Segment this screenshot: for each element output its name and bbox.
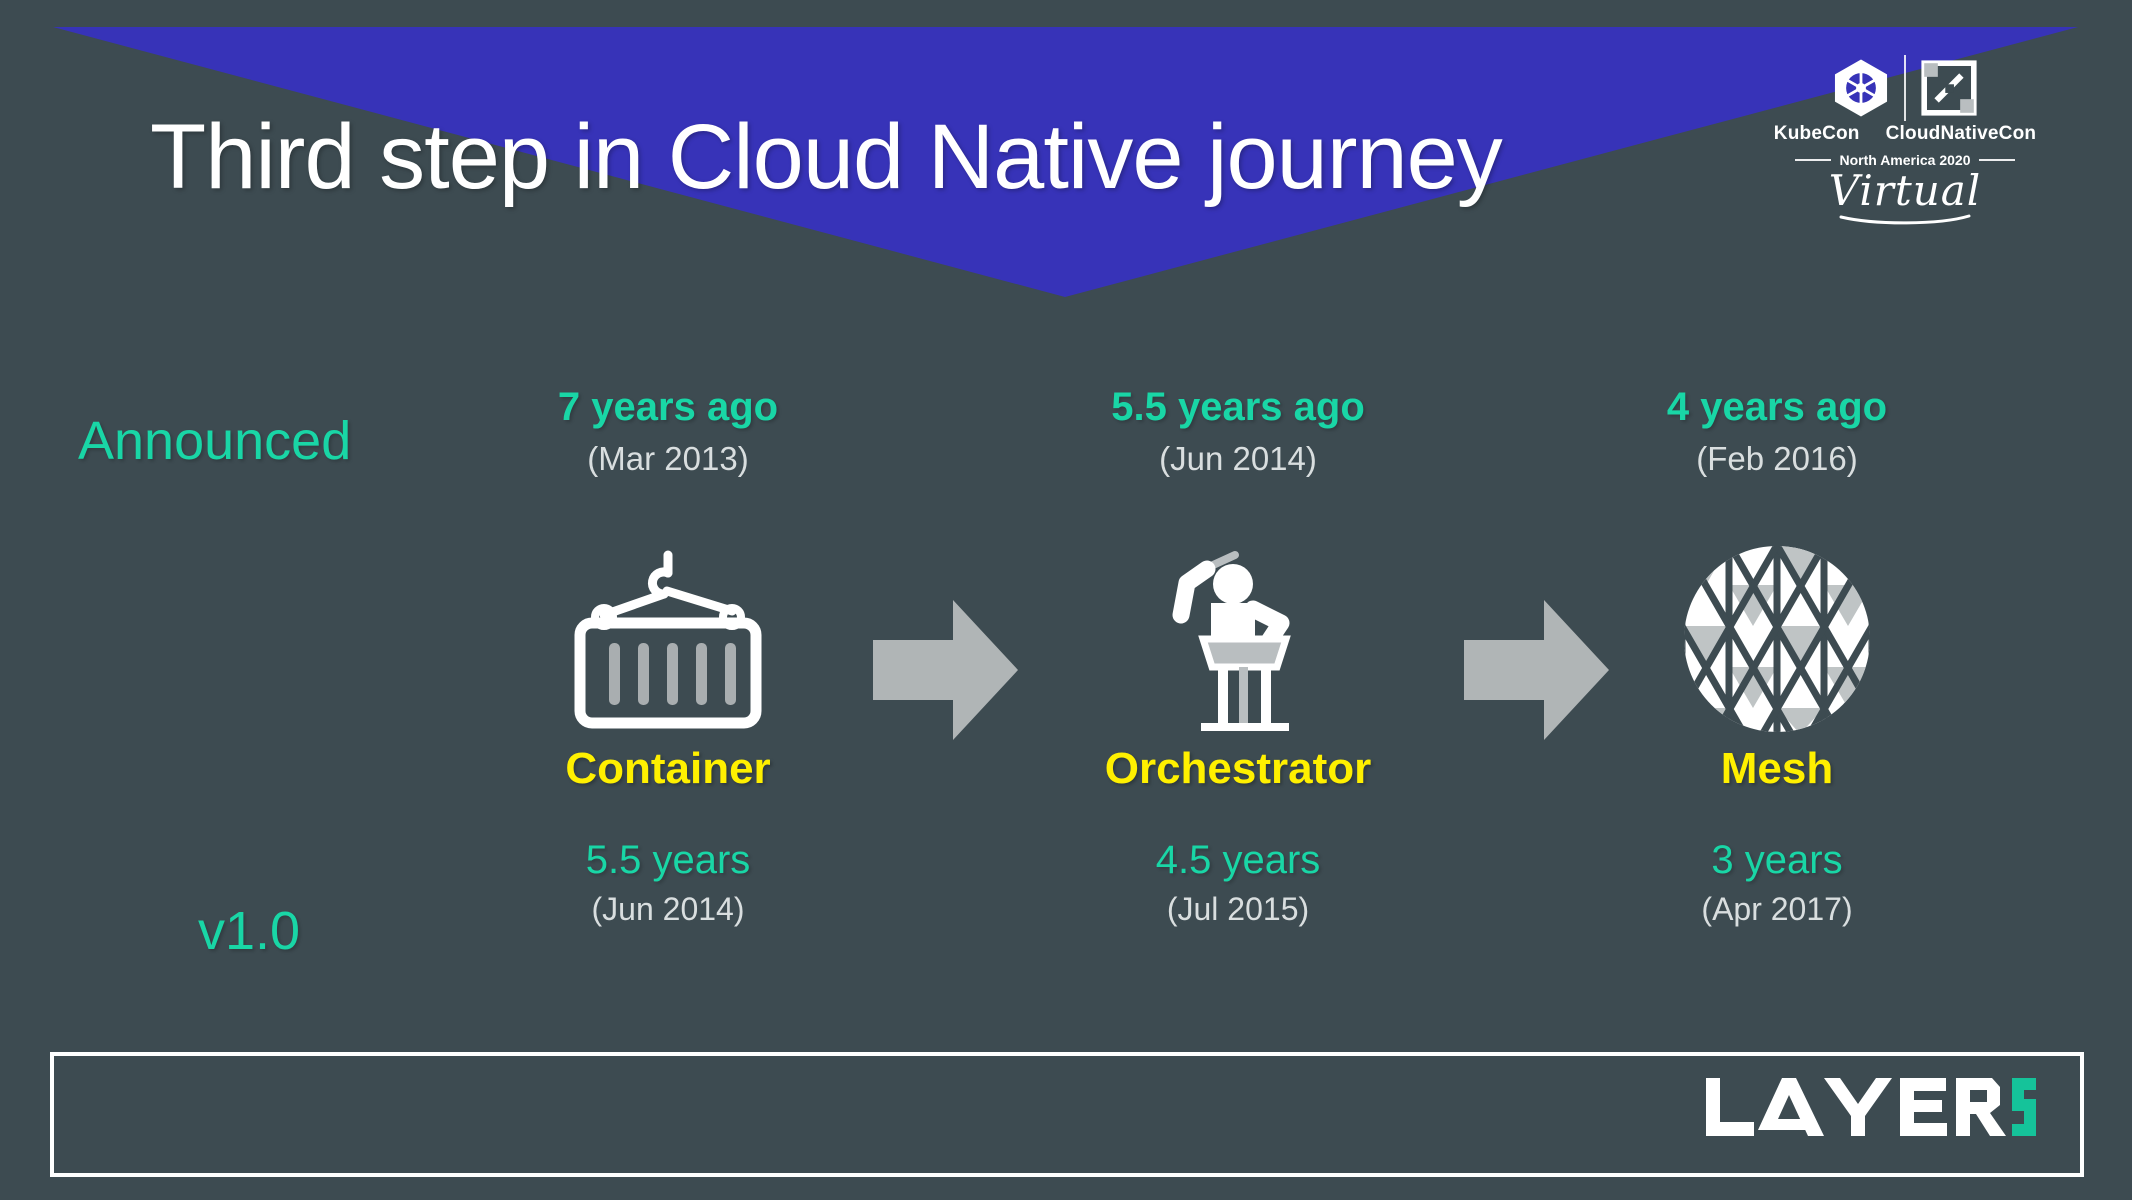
arrow-right-icon xyxy=(873,600,1018,740)
stage-v1-ago: 3 years xyxy=(1562,838,1992,883)
stage-announced-ago: 4 years ago xyxy=(1562,385,1992,430)
conference-format: Virtual xyxy=(1760,170,2050,212)
stage-announced-date: (Jun 2014) xyxy=(1023,440,1453,478)
cloudnativecon-wordmark: CloudNativeCon xyxy=(1886,123,2037,145)
kubernetes-helm-icon xyxy=(1830,57,1892,119)
stage-announced-ago: 7 years ago xyxy=(453,385,883,430)
stage-announced-date: (Mar 2013) xyxy=(453,440,883,478)
stage-v1-date: (Jun 2014) xyxy=(453,891,883,928)
page-title: Third step in Cloud Native journey xyxy=(150,105,1710,210)
row-label-announced: Announced xyxy=(78,410,351,472)
cloudnativecon-square-icon xyxy=(1918,57,1980,119)
stage-icon-wrap xyxy=(453,544,883,734)
row-label-v1: v1.0 xyxy=(198,900,300,962)
slide-canvas: Third step in Cloud Native journey xyxy=(0,0,2132,1200)
stage-icon-wrap xyxy=(1562,544,1992,734)
service-mesh-circle-icon xyxy=(1682,544,1872,734)
orchestra-conductor-icon xyxy=(1153,547,1323,732)
rule-left xyxy=(1795,159,1831,161)
stage-v1-date: (Apr 2017) xyxy=(1562,891,1992,928)
stage-v1-ago: 5.5 years xyxy=(453,838,883,883)
stage-icon-wrap xyxy=(1023,544,1453,734)
layer5-logo xyxy=(1706,1078,2036,1136)
conference-logo: KubeCon CloudNativeCon North America 202… xyxy=(1760,55,2050,235)
layer5-wordmark-icon xyxy=(1706,1078,2036,1136)
stage-v1-ago: 4.5 years xyxy=(1023,838,1453,883)
logo-divider xyxy=(1904,55,1906,121)
stage-container: 7 years ago (Mar 2013) xyxy=(453,385,883,928)
stage-name: Container xyxy=(453,744,883,794)
stage-name: Mesh xyxy=(1562,744,1992,794)
footer-frame xyxy=(50,1052,2084,1177)
stage-announced-date: (Feb 2016) xyxy=(1562,440,1992,478)
stage-v1-date: (Jul 2015) xyxy=(1023,891,1453,928)
kubecon-wordmark: KubeCon xyxy=(1774,123,1860,145)
stage-mesh: 4 years ago (Feb 2016) xyxy=(1562,385,1992,928)
shipping-container-icon xyxy=(568,547,768,732)
rule-right xyxy=(1979,159,2015,161)
stage-name: Orchestrator xyxy=(1023,744,1453,794)
stage-orchestrator: 5.5 years ago (Jun 2014) xyxy=(1023,385,1453,928)
script-underline-swash xyxy=(1835,213,1975,225)
stage-announced-ago: 5.5 years ago xyxy=(1023,385,1453,430)
